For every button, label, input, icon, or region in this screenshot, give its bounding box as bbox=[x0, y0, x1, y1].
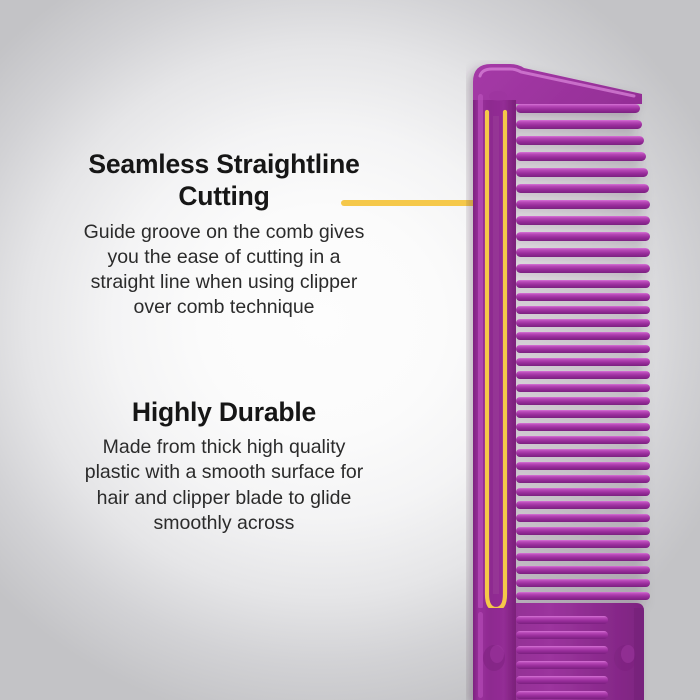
comb-tooth bbox=[516, 136, 644, 145]
spine-molding-mark bbox=[489, 91, 507, 101]
comb-tooth bbox=[516, 566, 650, 574]
comb-tooth bbox=[516, 553, 650, 561]
comb-tooth bbox=[516, 293, 650, 301]
comb-tooth bbox=[516, 410, 650, 418]
comb-tooth bbox=[516, 527, 650, 535]
comb-tooth bbox=[516, 332, 650, 340]
wide-tooth-section bbox=[516, 104, 650, 273]
comb-tooth bbox=[516, 646, 608, 654]
comb-tooth bbox=[516, 397, 650, 405]
comb-tooth bbox=[516, 168, 648, 177]
comb-tooth bbox=[516, 475, 650, 483]
infographic-canvas: Seamless StraightlineCutting Guide groov… bbox=[0, 0, 700, 700]
comb-tooth bbox=[516, 449, 650, 457]
comb-tooth bbox=[516, 579, 650, 587]
comb-tooth bbox=[516, 232, 650, 241]
comb-tooth bbox=[516, 371, 650, 379]
body-line: straight line when using clipper bbox=[24, 270, 424, 295]
comb-tooth bbox=[516, 306, 650, 314]
comb-tooth bbox=[516, 358, 650, 366]
body-line: Guide groove on the comb gives bbox=[24, 220, 424, 245]
comb-tooth bbox=[516, 384, 650, 392]
body-line: over comb technique bbox=[24, 295, 424, 320]
comb-tooth bbox=[516, 345, 650, 353]
comb-handle-highlight bbox=[478, 612, 483, 698]
comb-tooth bbox=[516, 676, 608, 684]
comb-tooth bbox=[516, 592, 650, 600]
feature-heading-durable: Highly Durable bbox=[24, 396, 424, 428]
feature-body-straightline: Guide groove on the comb gives you the e… bbox=[24, 220, 424, 321]
comb-tooth bbox=[516, 248, 650, 257]
body-line: Made from thick high quality bbox=[24, 435, 424, 460]
comb-tooth bbox=[516, 200, 650, 209]
comb-tooth bbox=[516, 319, 650, 327]
comb-tooth bbox=[516, 104, 640, 113]
feature-block-straightline: Seamless StraightlineCutting Guide groov… bbox=[24, 148, 424, 320]
feature-body-durable: Made from thick high quality plastic wit… bbox=[24, 435, 424, 536]
comb-tooth bbox=[516, 280, 650, 288]
handle-grip-dot-highlight bbox=[621, 645, 635, 663]
comb-spine-highlight bbox=[478, 94, 483, 609]
comb-body-group bbox=[473, 64, 650, 700]
comb-tooth bbox=[516, 616, 608, 624]
handle-grip-dot-highlight bbox=[490, 645, 504, 663]
body-line: you the ease of cutting in a bbox=[24, 245, 424, 270]
fine-tooth-section bbox=[516, 280, 650, 600]
comb-tooth bbox=[516, 436, 650, 444]
comb-tooth bbox=[516, 462, 650, 470]
comb-tooth bbox=[516, 216, 650, 225]
clipper-comb-illustration bbox=[466, 60, 700, 700]
comb-tooth bbox=[516, 514, 650, 522]
feature-block-durable: Highly Durable Made from thick high qual… bbox=[24, 396, 424, 536]
comb-tooth bbox=[516, 184, 649, 193]
body-line: plastic with a smooth surface for bbox=[24, 460, 424, 485]
comb-tooth bbox=[516, 152, 646, 161]
comb-tooth bbox=[516, 501, 650, 509]
comb-tooth bbox=[516, 120, 642, 129]
body-line: smoothly across bbox=[24, 511, 424, 536]
feature-text-column: Seamless StraightlineCutting Guide groov… bbox=[24, 0, 424, 700]
body-line: hair and clipper blade to glide bbox=[24, 486, 424, 511]
comb-tooth bbox=[516, 423, 650, 431]
comb-tooth bbox=[516, 631, 608, 639]
base-edge-shade bbox=[634, 608, 644, 700]
comb-tooth bbox=[516, 540, 650, 548]
comb-tooth bbox=[516, 661, 608, 669]
comb-tooth bbox=[516, 488, 650, 496]
comb-tooth bbox=[516, 691, 608, 699]
comb-tooth bbox=[516, 264, 650, 273]
